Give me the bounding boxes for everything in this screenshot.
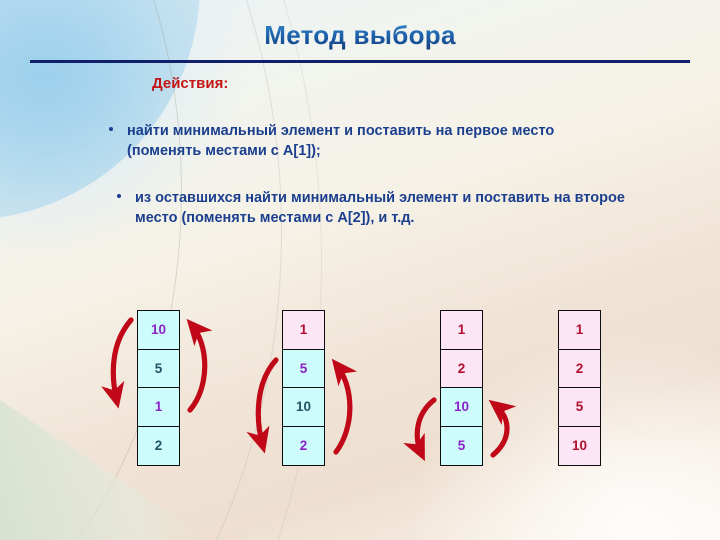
- array-column-step-2: 1 5 10 2: [282, 310, 325, 466]
- array-cell: 10: [559, 427, 600, 466]
- array-cell: 10: [441, 388, 482, 427]
- array-cell: 5: [441, 427, 482, 466]
- array-cell: 10: [138, 311, 179, 350]
- array-cell: 1: [138, 388, 179, 427]
- array-cell: 2: [441, 350, 482, 389]
- sort-columns-diagram: 10 5 1 2 1 5 10 2 1 2 10 5 1 2 5 10: [0, 0, 720, 540]
- array-cell: 2: [559, 350, 600, 389]
- array-cell: 1: [441, 311, 482, 350]
- array-cell: 1: [559, 311, 600, 350]
- array-cell: 2: [138, 427, 179, 466]
- array-cell: 5: [559, 388, 600, 427]
- slide-canvas: Метод выбора Действия: найти минимальный…: [0, 0, 720, 540]
- array-cell: 2: [283, 427, 324, 466]
- array-cell: 5: [283, 350, 324, 389]
- array-cell: 10: [283, 388, 324, 427]
- array-column-step-1: 10 5 1 2: [137, 310, 180, 466]
- array-column-step-3: 1 2 10 5: [440, 310, 483, 466]
- array-cell: 1: [283, 311, 324, 350]
- array-cell: 5: [138, 350, 179, 389]
- array-column-step-4: 1 2 5 10: [558, 310, 601, 466]
